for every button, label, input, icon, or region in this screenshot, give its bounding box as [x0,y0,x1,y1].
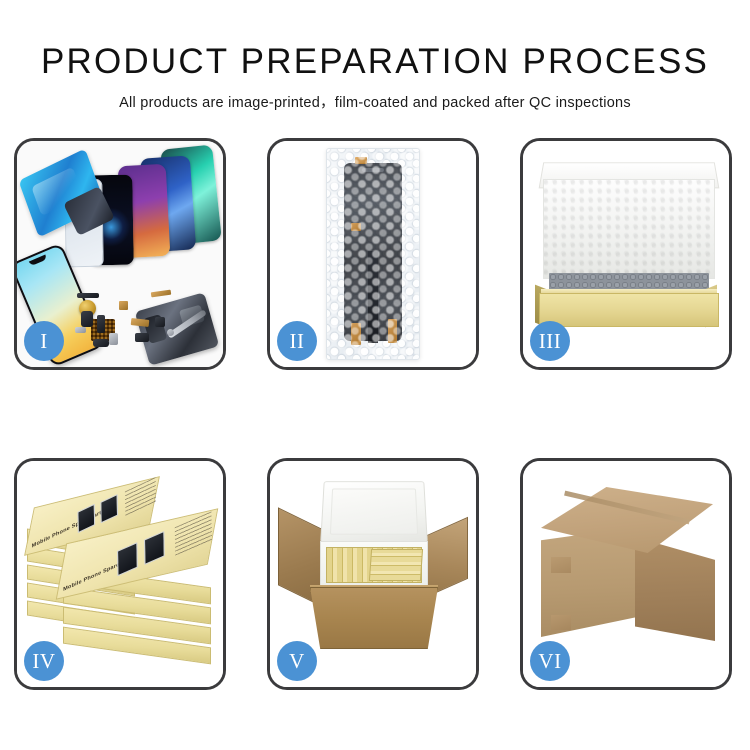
process-step-panel-3: III [520,138,732,370]
process-step-panel-6: VI [520,458,732,690]
box-print-screen-image [144,531,165,565]
bubble-wrap-bag-icon [326,148,420,360]
page-title: PRODUCT PREPARATION PROCESS [0,42,750,82]
yellow-boxes-row-icon [369,549,423,581]
flex-cable-icon [368,251,378,343]
step-6-illustration: VI [523,461,729,687]
step-4-illustration: Mobile Phone Spare Parts Mobile Phone Sp… [17,461,223,687]
process-step-panel-1: I [14,138,226,370]
step-number-badge-4: IV [24,641,64,681]
spare-parts-cluster [75,289,187,353]
carton-tape-patch [551,557,571,573]
tape-piece-icon [388,319,397,343]
box-print-text-block [175,511,212,556]
process-step-panel-2: II [267,138,479,370]
step-number-badge-5: V [277,641,317,681]
box-print-text-block [125,477,156,517]
box-print-screen-image [100,494,118,523]
step-number-badge-3: III [530,321,570,361]
foam-lid-icon [320,481,428,543]
yellow-box-front-icon [539,293,719,327]
box-print-screen-image [117,542,138,576]
step-2-illustration: II [270,141,476,367]
product-preparation-infographic: PRODUCT PREPARATION PROCESS All products… [0,0,750,750]
carton-tape-patch [551,615,571,630]
box-print-screen-image [77,504,95,533]
tape-piece-icon [351,223,361,231]
step-3-illustration: III [523,141,729,367]
tape-piece-icon [351,323,361,345]
step-number-badge-2: II [277,321,317,361]
step-1-illustration: I [17,141,223,367]
process-step-panel-5: V [267,458,479,690]
foam-sheet-icon [543,179,715,279]
process-step-panel-4: Mobile Phone Spare Parts Mobile Phone Sp… [14,458,226,690]
page-subtitle: All products are image-printed，film-coat… [0,91,750,112]
step-5-illustration: V [270,461,476,687]
process-step-grid: I II [14,138,736,694]
header: PRODUCT PREPARATION PROCESS All products… [0,42,750,112]
carton-front-icon [310,587,438,649]
step-number-badge-1: I [24,321,64,361]
step-number-badge-6: VI [530,641,570,681]
tape-piece-icon [355,157,367,164]
